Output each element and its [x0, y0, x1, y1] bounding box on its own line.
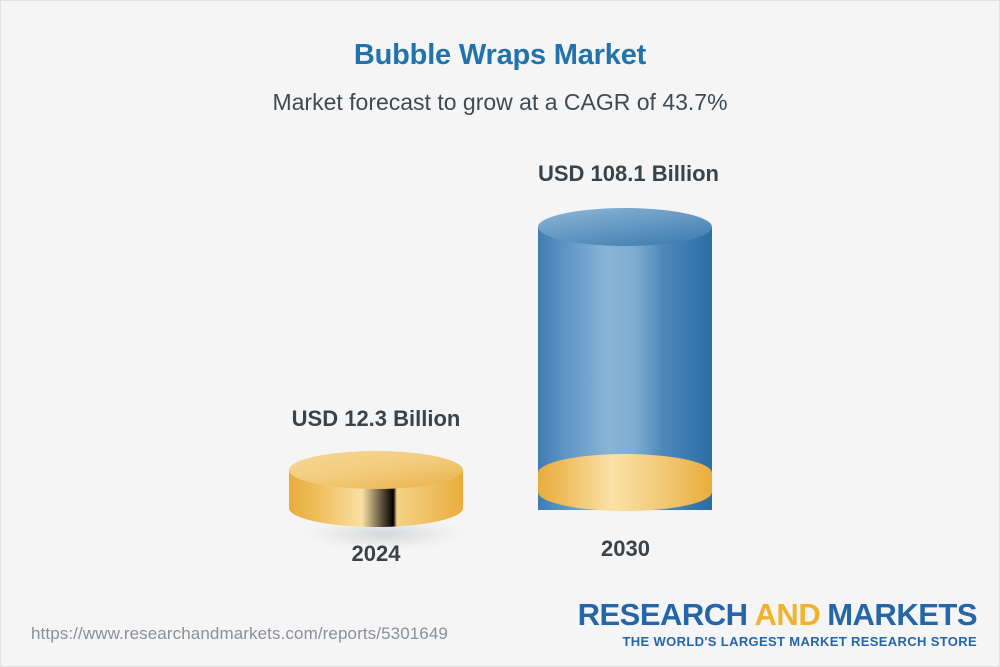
logo-word-markets: MARKETS: [827, 597, 977, 632]
axis-label-2024: 2024: [289, 541, 463, 567]
logo-tagline: THE WORLD'S LARGEST MARKET RESEARCH STOR…: [578, 635, 977, 648]
chart-canvas: Bubble Wraps Market Market forecast to g…: [0, 0, 1000, 667]
value-label-2030: USD 108.1 Billion: [538, 161, 713, 187]
logo-word-research: RESEARCH: [578, 597, 748, 632]
logo-wordmark: RESEARCHANDMARKETS: [578, 599, 977, 630]
research-and-markets-logo[interactable]: RESEARCHANDMARKETS THE WORLD'S LARGEST M…: [578, 599, 977, 648]
source-url-link[interactable]: https://www.researchandmarkets.com/repor…: [31, 624, 448, 644]
logo-word-and: AND: [755, 597, 821, 632]
plot-area: USD 12.3 Billion: [1, 1, 1000, 601]
axis-label-2030: 2030: [538, 536, 713, 562]
cylinder-2030: [528, 197, 723, 522]
value-label-2024: USD 12.3 Billion: [289, 406, 463, 432]
